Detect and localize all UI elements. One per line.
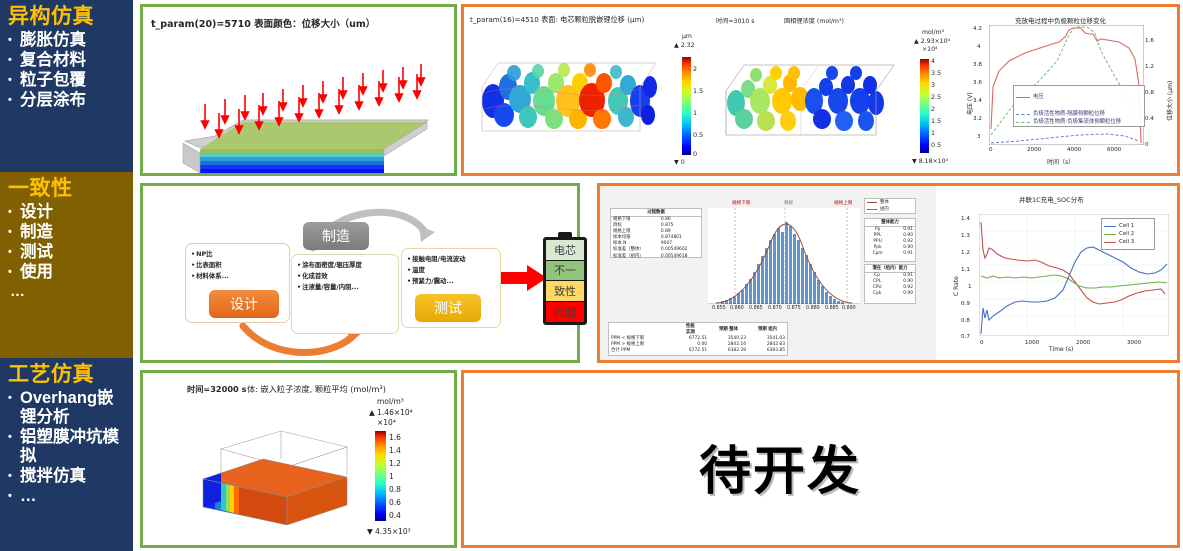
bullet-icon: •: [8, 91, 20, 110]
sidebar-item-composite[interactable]: • 复合材料: [8, 51, 127, 70]
displacement-chart-legend[interactable]: 电压 负极活性物质-隔膜侧颗粒位移 负极活性物质-负极集流体侧颗粒位移: [1013, 85, 1145, 127]
flow-box-test-item: 温度: [407, 265, 496, 276]
sidebar-item-design[interactable]: • 设计: [8, 203, 127, 222]
displacement-chart-title: 充放电过程中负极颗粒位移变化: [1015, 15, 1106, 25]
panel-particle-simulations[interactable]: t_param(16)=4510 表面: 电芯颗粒脱嵌锂位移 (μm): [461, 4, 1180, 176]
capability-legend: 整体 组内: [864, 198, 916, 214]
conc-3d-geometry: [714, 43, 909, 153]
displacement-x-label: 时间（s）: [1047, 157, 1074, 166]
legend-swatch-cell2: [1104, 234, 1116, 235]
legend-swatch-separator: [1016, 114, 1030, 115]
conc-colorbar-unit: mol/m³: [922, 29, 958, 36]
sidebar: 异构仿真 • 膨胀仿真 • 复合材料 • 粒子包覆 • 分层涂布 一致性 • 设…: [0, 0, 133, 551]
sidebar-section-heterogeneous[interactable]: 异构仿真 • 膨胀仿真 • 复合材料 • 粒子包覆 • 分层涂布: [0, 0, 133, 172]
flow-box-test-item: 接触电阻/电流波动: [407, 254, 496, 265]
bullet-icon: •: [8, 263, 20, 282]
histogram-lsl-label: 规格下限: [732, 200, 750, 206]
panel-consistency-analysis[interactable]: 过程数据 规格下限0.86 目标0.875 规格上限0.89 样本均值0.874…: [597, 183, 1180, 363]
sidebar-item-label: 铝塑膜冲坑模拟: [20, 428, 127, 466]
particle-colorbar-group: μm ▲ 2.32: [674, 33, 695, 47]
battery-cell-2: 不一: [546, 261, 584, 282]
legend-label: 负极活性物质-隔膜侧颗粒位移: [1033, 110, 1105, 118]
sidebar-item-label: 分层涂布: [20, 91, 127, 110]
panel-expansion-simulation[interactable]: t_param(20)=5710 表面颜色：位移大小（um）: [140, 4, 457, 176]
flow-box-manufacture-item: 化成首效: [297, 271, 394, 282]
battery-cell-1: 电芯: [546, 240, 584, 261]
overhang-3d-geometry: [157, 401, 372, 541]
sidebar-item-label: Overhang嵌锂分析: [20, 389, 127, 427]
legend-swatch-collector: [1016, 122, 1030, 123]
sidebar-item-expansion[interactable]: • 膨胀仿真: [8, 31, 127, 50]
bullet-icon: •: [8, 467, 20, 486]
overhang-colorbar-unit: mol/m³: [377, 397, 421, 406]
displacement-chart[interactable]: 充放电过程中负极颗粒位移变化 电压 (V) 位移大小 (μm) 时间（s） 4.…: [959, 11, 1177, 173]
flow-box-design-item: 材料体系...: [191, 271, 285, 282]
conc-colorbar-scale: ×10⁴: [922, 46, 958, 53]
legend-label: 组内: [880, 206, 889, 213]
sidebar-item-label: 复合材料: [20, 51, 127, 70]
legend-swatch-within: [867, 209, 877, 210]
overhang-colorbar-group: mol/m³ ▲ 1.46×10⁴ ×10⁴: [369, 397, 413, 424]
sidebar-section-title: 工艺仿真: [8, 362, 127, 387]
soc-chart-legend[interactable]: Cell 1 Cell 2 Cell 3: [1101, 218, 1155, 250]
overhang-colorbar-min: ▼ 4.35×10³: [367, 527, 411, 536]
particle-3d-geometry: [468, 43, 668, 153]
soc-y-label: C Rate: [953, 276, 960, 296]
legend-swatch-overall: [867, 202, 877, 203]
flow-box-manufacture-item: 注液量/容量/内阻...: [297, 282, 394, 293]
bullet-icon: •: [8, 51, 20, 70]
sidebar-item-coating[interactable]: • 粒子包覆: [8, 71, 127, 90]
bullet-icon: •: [8, 31, 20, 50]
histogram-target-label: 目标: [784, 200, 793, 206]
overhang-colorbar-scale: ×10⁴: [377, 418, 421, 427]
panel-to-be-developed[interactable]: 待开发: [461, 370, 1180, 548]
sidebar-section-title: 异构仿真: [8, 4, 127, 29]
sidebar-item-pouch[interactable]: • 铝塑膜冲坑模拟: [8, 428, 127, 466]
panel-consistency-flow[interactable]: NP比 比表面积 材料体系... 设计 涂布面密度/辊压厚度 化成首效 注液量/…: [140, 183, 580, 363]
displacement-y2-label: 位移大小 (μm): [1165, 81, 1174, 121]
conc-caption-var: 固相锂浓度 (mol/m³): [784, 16, 844, 25]
battery-status-icon: 电芯 不一 致性 问题: [543, 237, 587, 325]
histogram-usl-label: 规格上限: [834, 200, 852, 206]
sidebar-item-label: 设计: [20, 203, 127, 222]
capability-within-header: 潜在（组内）能力: [865, 265, 915, 273]
sidebar-section-title: 一致性: [8, 176, 127, 201]
overhang-colorbar: [375, 431, 386, 521]
flow-box-design-item: 比表面积: [191, 260, 285, 271]
particle-caption: t_param(16)=4510 表面: 电芯颗粒脱嵌锂位移 (μm): [470, 15, 644, 25]
legend-item-within: 组内: [865, 206, 915, 213]
bullet-icon: •: [8, 389, 20, 427]
sidebar-item-label: …: [20, 487, 127, 506]
conc-caption-time: 时间=3010 s: [716, 16, 755, 25]
sidebar-item-label: 搅拌仿真: [20, 467, 127, 486]
soc-chart-title: 并联1C充电_SOC分布: [1019, 194, 1084, 204]
histogram-plot: [708, 208, 860, 304]
legend-item-voltage: 电压: [1014, 93, 1144, 101]
legend-item-cell2: Cell 2: [1102, 230, 1154, 238]
process-data-header: 过程数据: [611, 209, 701, 217]
capability-overall-table: 整体能力 Pp0.91 PPL0.90 PPU0.92 Ppk0.90 Cpm0…: [864, 218, 916, 262]
sidebar-item-test[interactable]: • 测试: [8, 243, 127, 262]
battery-cell-4: 问题: [546, 302, 584, 323]
particle-colorbar-max: ▲ 2.32: [674, 42, 695, 49]
conc-colorbar-min: ▼ 8.18×10³: [912, 158, 948, 165]
slide-root: 异构仿真 • 膨胀仿真 • 复合材料 • 粒子包覆 • 分层涂布 一致性 • 设…: [0, 0, 1183, 551]
flow-box-design-item: NP比: [191, 249, 285, 260]
sidebar-section-consistency[interactable]: 一致性 • 设计 • 制造 • 测试 • 使用 …: [0, 172, 133, 358]
capability-overall-header: 整体能力: [865, 219, 915, 227]
flow-pill-manufacture[interactable]: 制造: [303, 222, 369, 250]
capability-histogram[interactable]: 规格下限 目标 规格上限: [708, 200, 860, 320]
sidebar-item-overhang[interactable]: • Overhang嵌锂分析: [8, 389, 127, 427]
sidebar-section-process[interactable]: 工艺仿真 • Overhang嵌锂分析 • 铝塑膜冲坑模拟 • 搅拌仿真 • …: [0, 358, 133, 551]
sidebar-item-mixing[interactable]: • 搅拌仿真: [8, 467, 127, 486]
bullet-icon: •: [8, 203, 20, 222]
legend-item-cell1: Cell 1: [1102, 222, 1154, 230]
process-data-rows: 规格下限0.86 目标0.875 规格上限0.89 样本均值0.874801 样…: [611, 217, 701, 260]
legend-label: 电压: [1033, 93, 1044, 101]
flow-box-manufacture-item: 涂布面密度/辊压厚度: [297, 260, 394, 271]
ppm-table: 性能 实测预期 整体预期 组内 PPM < 规格下限6772.513540.23…: [608, 322, 788, 356]
legend-label: 整体: [880, 199, 889, 206]
battery-cell-3: 致性: [546, 281, 584, 302]
sidebar-ellipsis: …: [8, 283, 127, 300]
sidebar-item-label: 测试: [20, 243, 127, 262]
sidebar-item-label: 膨胀仿真: [20, 31, 127, 50]
particle-colorbar-unit: μm: [682, 33, 703, 40]
panel-overhang-simulation[interactable]: 时间=32000 s 体: 嵌入粒子浓度, 颗粒平均 (mol/m³): [140, 370, 457, 548]
sidebar-item-label: 制造: [20, 223, 127, 242]
capability-within-table: 潜在（组内）能力 Cp0.91 CPL0.90 CPU0.92 Cpk0.90: [864, 264, 916, 304]
overhang-caption-var: 体: 嵌入粒子浓度, 颗粒平均 (mol/m³): [247, 383, 386, 395]
legend-label: Cell 1: [1119, 222, 1134, 230]
soc-x-label: Time (s): [1049, 346, 1073, 353]
flow-pill-test[interactable]: 测试: [415, 294, 481, 322]
legend-label: Cell 3: [1119, 238, 1134, 246]
legend-swatch-cell3: [1104, 242, 1116, 243]
conc-colorbar: [920, 59, 929, 153]
sidebar-item-label: 粒子包覆: [20, 71, 127, 90]
bullet-icon: •: [8, 428, 20, 466]
flow-box-manufacture[interactable]: 涂布面密度/辊压厚度 化成首效 注液量/容量/内阻...: [291, 254, 399, 334]
sidebar-item-layered[interactable]: • 分层涂布: [8, 91, 127, 110]
particle-colorbar: [682, 57, 691, 155]
legend-swatch-voltage: [1016, 97, 1030, 98]
flow-pill-design[interactable]: 设计: [209, 290, 279, 318]
capability-report[interactable]: 过程数据 规格下限0.86 目标0.875 规格上限0.89 样本均值0.874…: [600, 186, 936, 360]
legend-item-separator-side: 负极活性物质-隔膜侧颗粒位移: [1014, 110, 1144, 118]
sidebar-item-usage[interactable]: • 使用: [8, 263, 127, 282]
overhang-caption-time: 时间=32000 s: [187, 383, 246, 395]
legend-label: 负极活性物质-负极集流体侧颗粒位移: [1033, 118, 1121, 126]
conc-colorbar-group: mol/m³ ▲ 2.93×10⁴ ×10⁴: [914, 29, 950, 50]
bullet-icon: •: [8, 71, 20, 90]
legend-item-collector-side: 负极活性物质-负极集流体侧颗粒位移: [1014, 118, 1144, 126]
conc-colorbar-max: ▲ 2.93×10⁴: [914, 38, 950, 45]
bullet-icon: •: [8, 487, 20, 506]
flow-box-test-item: 预紧力/震动...: [407, 276, 496, 287]
to-be-developed-label: 待开发: [699, 429, 861, 504]
sidebar-item-label: 使用: [20, 263, 127, 282]
soc-chart[interactable]: 并联1C充电_SOC分布 C Rate Time (s) 1.4 1.3 1.2…: [945, 188, 1177, 360]
bullet-icon: •: [8, 243, 20, 262]
sidebar-item-more[interactable]: • …: [8, 487, 127, 506]
particle-colorbar-min: ▼ 0: [674, 159, 685, 166]
expansion-caption: t_param(20)=5710 表面颜色：位移大小（um）: [151, 16, 375, 30]
expansion-3d-geometry: [143, 43, 454, 173]
bullet-icon: •: [8, 223, 20, 242]
process-data-table: 过程数据 规格下限0.86 目标0.875 规格上限0.89 样本均值0.874…: [610, 208, 702, 258]
sidebar-item-manufacture[interactable]: • 制造: [8, 223, 127, 242]
legend-swatch-cell1: [1104, 226, 1116, 227]
overhang-colorbar-max: ▲ 1.46×10⁴: [369, 408, 413, 417]
legend-item-overall: 整体: [865, 199, 915, 206]
legend-item-cell3: Cell 3: [1102, 238, 1154, 246]
legend-label: Cell 2: [1119, 230, 1134, 238]
